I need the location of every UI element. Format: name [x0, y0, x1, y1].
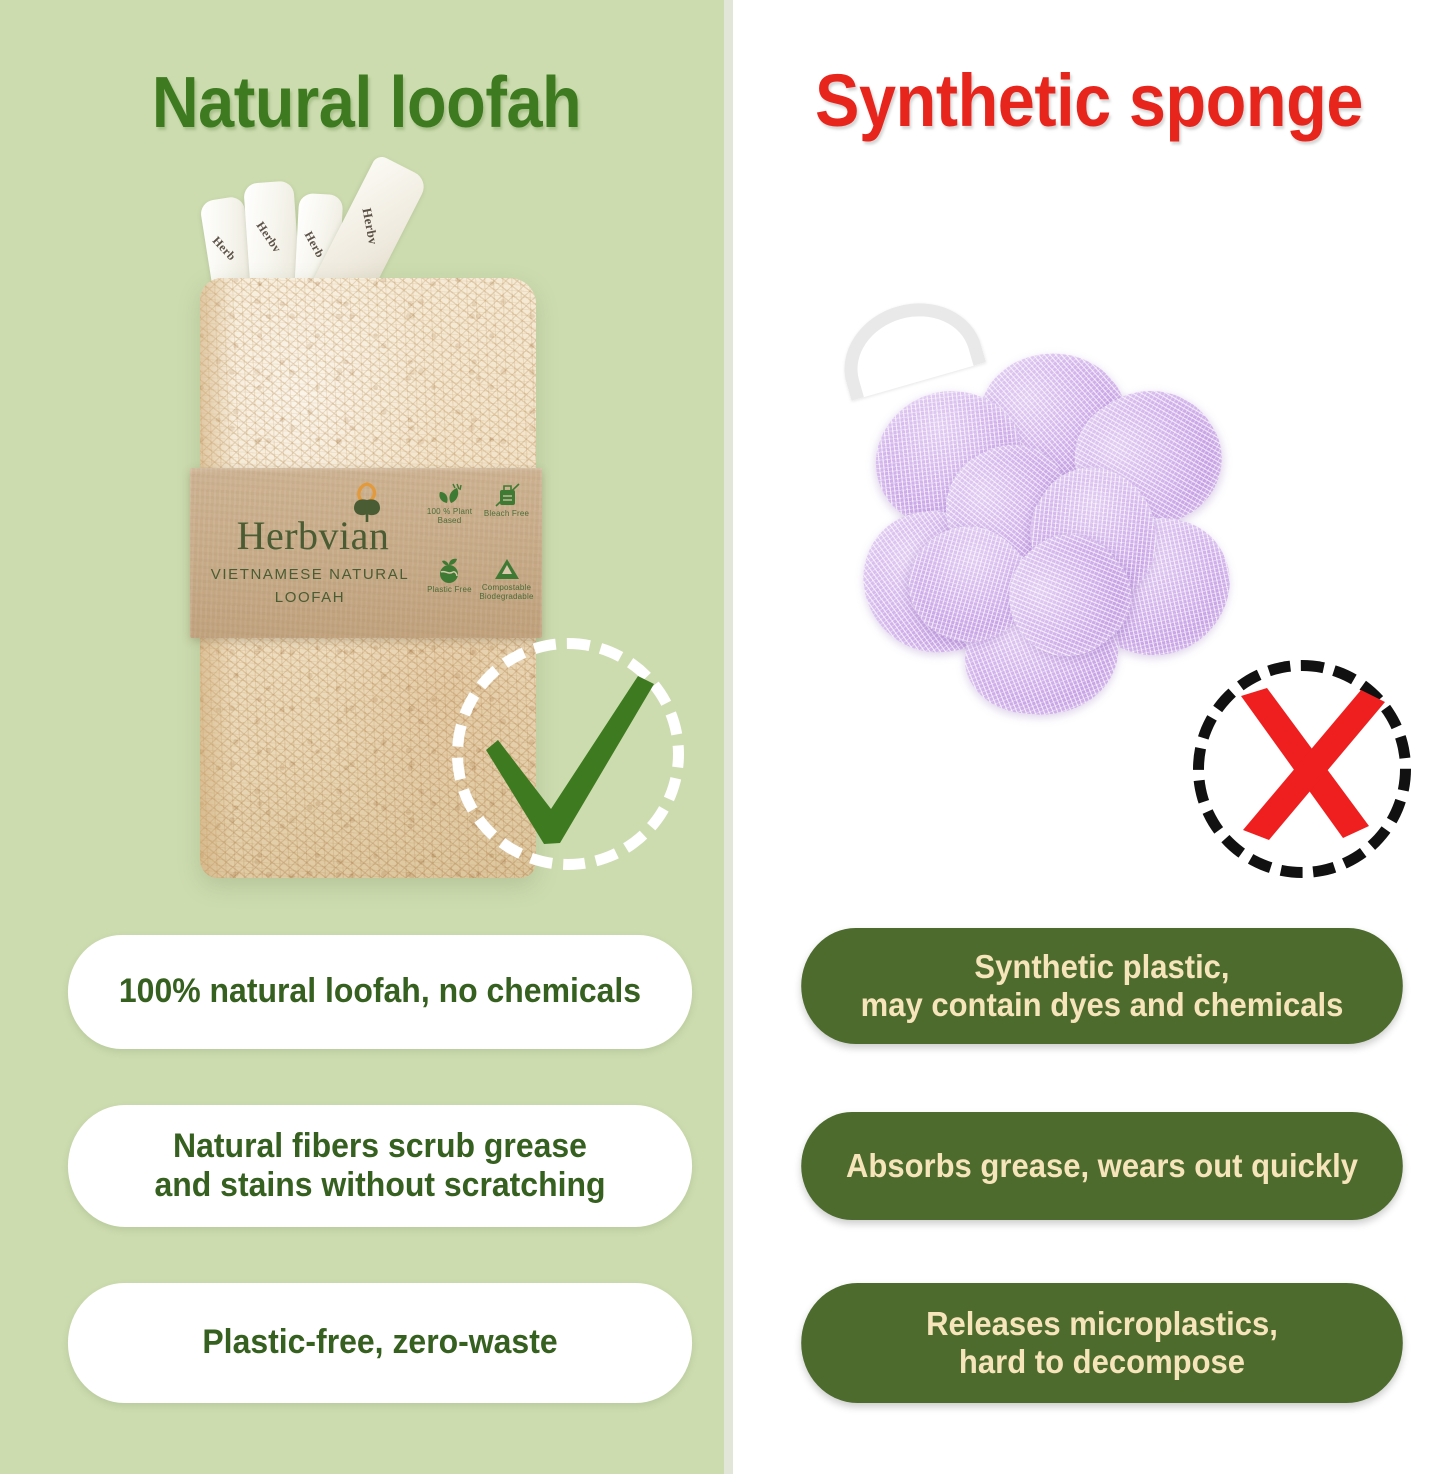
right-panel-heading: Synthetic sponge — [769, 58, 1410, 143]
recycle-triangle-icon — [492, 556, 522, 582]
eco-badge-bleach-free: Bleach Free — [479, 482, 534, 554]
comparison-infographic: Natural loofah Herb Herbv Herb Herbv — [0, 0, 1445, 1474]
benefit-pill: 100% natural loofah, no chemicals — [68, 935, 692, 1049]
verdict-badge-approved — [452, 638, 684, 870]
benefit-pill: Natural fibers scrub grease and stains w… — [68, 1105, 692, 1227]
verdict-badge-rejected — [1193, 660, 1411, 878]
benefit-pill: Plastic-free, zero-waste — [68, 1283, 692, 1403]
product-label-band: Herbvian VIETNAMESE NATURAL LOOFAH 100 %… — [190, 468, 542, 638]
hang-tag-label: Herb — [209, 233, 243, 268]
brand-subtitle: VIETNAMESE NATURAL LOOFAH — [202, 564, 418, 609]
eco-badge-compostable: Compostable Biodegradable — [479, 556, 534, 628]
hang-tag-label: Herbv — [253, 219, 288, 261]
eco-badge-label: Plastic Free — [422, 585, 477, 594]
eco-badge-label: 100 % Plant Based — [422, 507, 477, 525]
drawback-pill: Synthetic plastic, may contain dyes and … — [801, 928, 1403, 1044]
leaves-icon — [433, 482, 467, 506]
drawback-pill: Releases microplastics, hard to decompos… — [801, 1283, 1403, 1403]
drawback-pill-text: Releases microplastics, hard to decompos… — [926, 1305, 1278, 1382]
globe-plant-icon — [435, 556, 465, 584]
no-bleach-icon — [492, 482, 522, 508]
cross-mark-icon — [1193, 660, 1411, 878]
hang-tag-label: Herbv — [358, 207, 382, 255]
benefit-pill-text: Natural fibers scrub grease and stains w… — [154, 1127, 605, 1206]
brand-name: Herbvian — [208, 512, 418, 559]
eco-badge-label: Compostable Biodegradable — [479, 583, 534, 601]
eco-badge-plastic-free: Plastic Free — [422, 556, 477, 628]
eco-badge-plant-based: 100 % Plant Based — [422, 482, 477, 554]
eco-badge-label: Bleach Free — [479, 509, 534, 518]
eco-badge-grid: 100 % Plant Based Bleach Free — [422, 482, 534, 628]
drawback-pill: Absorbs grease, wears out quickly — [801, 1112, 1403, 1220]
check-mark-icon — [452, 638, 684, 870]
drawback-pill-text: Synthetic plastic, may contain dyes and … — [861, 948, 1344, 1025]
mesh-pouf-body — [862, 351, 1234, 723]
left-panel-heading: Natural loofah — [37, 62, 697, 144]
synthetic-sponge-product-image — [820, 295, 1250, 725]
